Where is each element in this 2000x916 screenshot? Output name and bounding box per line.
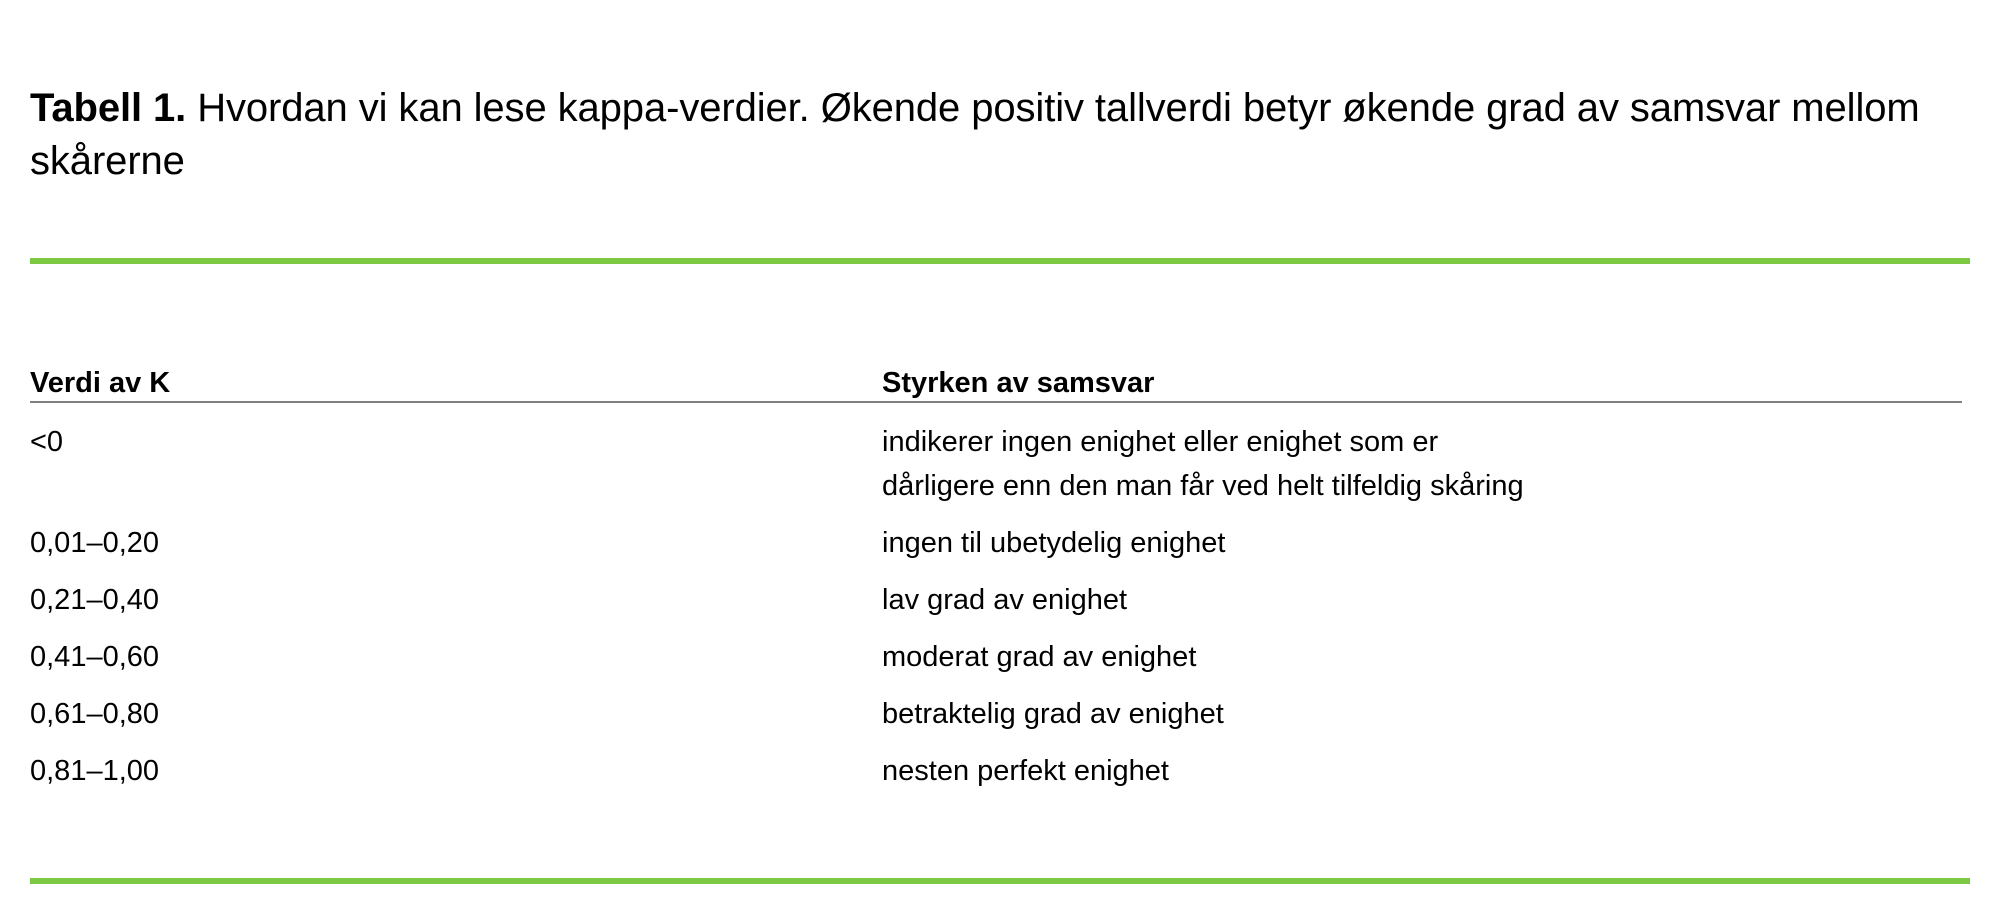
- table-header-row: Verdi av K Styrken av samsvar: [30, 275, 1970, 401]
- description-line: dårligere enn den man får ved helt tilfe…: [882, 466, 1970, 506]
- cell-value: 0,21–0,40: [30, 580, 882, 620]
- table-row: 0,01–0,20 ingen til ubetydelig enighet: [30, 523, 1970, 563]
- description-line: betraktelig grad av enighet: [882, 694, 1970, 734]
- table-body: <0 indikerer ingen enighet eller enighet…: [30, 401, 1970, 791]
- column-header-strength: Styrken av samsvar: [882, 275, 1970, 403]
- table-row: 0,41–0,60 moderat grad av enighet: [30, 637, 1970, 677]
- description-line: ingen til ubetydelig enighet: [882, 523, 1970, 563]
- description-line: indikerer ingen enighet eller enighet so…: [882, 422, 1970, 462]
- cell-value: 0,81–1,00: [30, 751, 882, 791]
- description-line: nesten perfekt enighet: [882, 751, 1970, 791]
- cell-description: nesten perfekt enighet: [882, 751, 1970, 791]
- kappa-table: Verdi av K Styrken av samsvar <0 indiker…: [30, 275, 1970, 791]
- cell-description: betraktelig grad av enighet: [882, 694, 1970, 734]
- cell-value: 0,61–0,80: [30, 694, 882, 734]
- cell-description: indikerer ingen enighet eller enighet so…: [882, 422, 1970, 506]
- cell-value: <0: [30, 422, 882, 462]
- bottom-green-rule: [30, 878, 1970, 884]
- description-line: lav grad av enighet: [882, 580, 1970, 620]
- table-row: 0,81–1,00 nesten perfekt enighet: [30, 751, 1970, 791]
- table-row: <0 indikerer ingen enighet eller enighet…: [30, 422, 1970, 506]
- caption-text: Hvordan vi kan lese kappa-verdier. Økend…: [30, 86, 1920, 183]
- description-line: moderat grad av enighet: [882, 637, 1970, 677]
- cell-value: 0,01–0,20: [30, 523, 882, 563]
- header-separator-rule: [30, 401, 1962, 403]
- cell-value: 0,41–0,60: [30, 637, 882, 677]
- table-row: 0,61–0,80 betraktelig grad av enighet: [30, 694, 1970, 734]
- cell-description: lav grad av enighet: [882, 580, 1970, 620]
- cell-description: ingen til ubetydelig enighet: [882, 523, 1970, 563]
- column-header-value: Verdi av K: [30, 275, 882, 403]
- caption-label: Tabell 1.: [30, 86, 186, 130]
- top-green-rule: [30, 258, 1970, 264]
- cell-description: moderat grad av enighet: [882, 637, 1970, 677]
- table-caption: Tabell 1. Hvordan vi kan lese kappa-verd…: [30, 82, 1940, 188]
- table-row: 0,21–0,40 lav grad av enighet: [30, 580, 1970, 620]
- table-page: Tabell 1. Hvordan vi kan lese kappa-verd…: [0, 0, 2000, 916]
